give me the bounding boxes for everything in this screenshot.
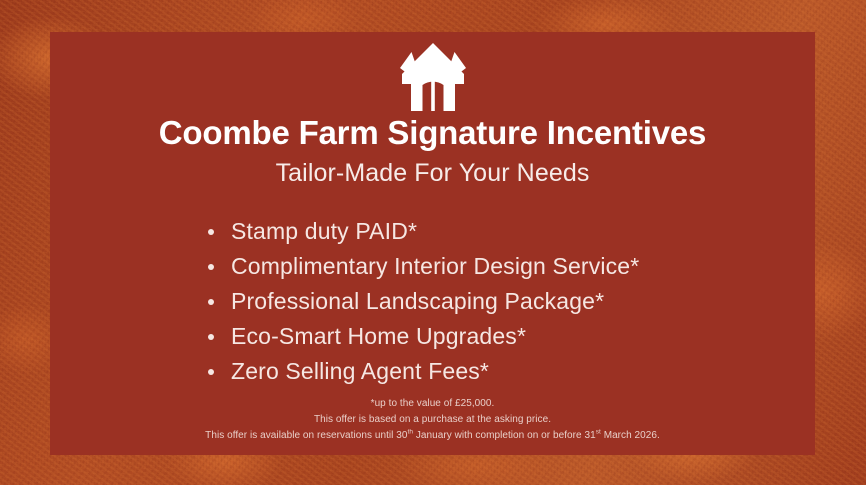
fineprint-line-3-part-2: January with completion on or before 31 xyxy=(413,430,596,441)
fineprint-line-3: This offer is available on reservations … xyxy=(50,428,815,444)
coombe-farm-barn-logo-icon xyxy=(398,41,468,113)
bullet-icon xyxy=(208,229,214,235)
fineprint-line-3-part-3: March 2026. xyxy=(601,430,660,441)
bullet-icon xyxy=(208,334,214,340)
promotional-slide: Coombe Farm Signature Incentives Tailor-… xyxy=(0,0,866,485)
bullet-icon xyxy=(208,264,214,270)
page-title: Coombe Farm Signature Incentives xyxy=(159,115,706,152)
list-item: Complimentary Interior Design Service* xyxy=(208,249,815,284)
bullet-icon xyxy=(208,369,214,375)
incentive-label: Professional Landscaping Package* xyxy=(231,288,604,314)
fineprint-disclaimer: *up to the value of £25,000. This offer … xyxy=(50,396,815,444)
bullet-icon xyxy=(208,299,214,305)
fineprint-line-2: This offer is based on a purchase at the… xyxy=(50,412,815,428)
list-item: Zero Selling Agent Fees* xyxy=(208,354,815,389)
incentives-list: Stamp duty PAID* Complimentary Interior … xyxy=(50,214,815,389)
fineprint-line-1: *up to the value of £25,000. xyxy=(50,396,815,412)
fineprint-line-3-part-1: This offer is available on reservations … xyxy=(205,430,407,441)
incentive-label: Zero Selling Agent Fees* xyxy=(231,358,489,384)
list-item: Stamp duty PAID* xyxy=(208,214,815,249)
page-subtitle: Tailor-Made For Your Needs xyxy=(276,159,590,188)
list-item: Eco-Smart Home Upgrades* xyxy=(208,319,815,354)
incentive-label: Complimentary Interior Design Service* xyxy=(231,253,639,279)
incentive-label: Stamp duty PAID* xyxy=(231,218,417,244)
incentive-label: Eco-Smart Home Upgrades* xyxy=(231,323,526,349)
content-panel: Coombe Farm Signature Incentives Tailor-… xyxy=(50,32,815,455)
list-item: Professional Landscaping Package* xyxy=(208,284,815,319)
